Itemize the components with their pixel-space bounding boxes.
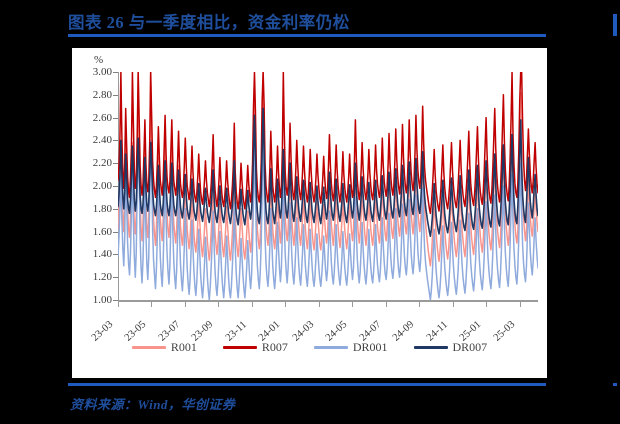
- y-axis-tick-label: 2.40: [72, 134, 112, 146]
- x-axis-tick-mark: [419, 302, 420, 307]
- x-axis-tick-mark: [118, 302, 119, 307]
- footer-divider: [68, 383, 546, 386]
- x-axis-tick-mark: [151, 302, 152, 307]
- chart-panel: % 3.002.802.602.402.202.001.801.601.401.…: [72, 48, 547, 378]
- legend-item-dr007[interactable]: DR007: [414, 340, 488, 355]
- source-note: 资料来源：Wind，华创证券: [70, 394, 235, 413]
- y-axis-tick-label: 1.80: [72, 203, 112, 215]
- legend-label: DR001: [353, 340, 388, 355]
- y-axis-tick-label: 2.60: [72, 112, 112, 124]
- y-axis-tick-label: 3.00: [72, 66, 112, 78]
- x-axis-tick-mark: [285, 302, 286, 307]
- x-axis-tick-mark: [185, 302, 186, 307]
- figure-page: 图表 26 与一季度相比，资金利率仍松 % 3.002.802.602.402.…: [0, 0, 620, 424]
- y-axis-tick-label: 2.20: [72, 157, 112, 169]
- title-divider: [68, 34, 546, 37]
- x-axis-tick-mark: [252, 302, 253, 307]
- x-axis-tick-mark: [352, 302, 353, 307]
- legend-label: R007: [262, 340, 288, 355]
- legend-swatch-dr001: [314, 346, 348, 349]
- legend-label: R001: [171, 340, 197, 355]
- x-axis-tick-mark: [218, 302, 219, 307]
- y-axis-unit-label: %: [94, 54, 103, 66]
- x-axis-tick-mark: [319, 302, 320, 307]
- x-axis-tick-mark: [386, 302, 387, 307]
- y-axis-tick-mark: [113, 300, 118, 301]
- x-axis-tick-mark: [486, 302, 487, 307]
- legend-swatch-r001: [132, 346, 166, 349]
- y-axis-tick-label: 1.60: [72, 226, 112, 238]
- y-axis-tick-label: 2.00: [72, 180, 112, 192]
- legend-swatch-r007: [223, 346, 257, 349]
- legend-item-r007[interactable]: R007: [223, 340, 288, 355]
- y-axis-tick-label: 1.00: [72, 294, 112, 306]
- x-axis-tick-mark: [520, 302, 521, 307]
- series-svg: [118, 72, 538, 300]
- legend-item-dr001[interactable]: DR001: [314, 340, 388, 355]
- title-divider-right-cap: [613, 14, 617, 36]
- legend-swatch-dr007: [414, 346, 448, 349]
- footer-divider-right-cap: [613, 383, 617, 386]
- x-axis-line: [118, 300, 538, 302]
- y-axis-tick-label: 1.40: [72, 248, 112, 260]
- legend-label: DR007: [453, 340, 488, 355]
- figure-title-row: 图表 26 与一季度相比，资金利率仍松: [68, 8, 548, 34]
- plot-area: [118, 72, 538, 300]
- y-axis-tick-label: 1.20: [72, 271, 112, 283]
- chart-legend: R001R007DR001DR007: [72, 340, 547, 355]
- x-axis-tick-mark: [453, 302, 454, 307]
- legend-item-r001[interactable]: R001: [132, 340, 197, 355]
- page-title: 图表 26 与一季度相比，资金利率仍松: [68, 9, 350, 33]
- y-axis-tick-label: 2.80: [72, 89, 112, 101]
